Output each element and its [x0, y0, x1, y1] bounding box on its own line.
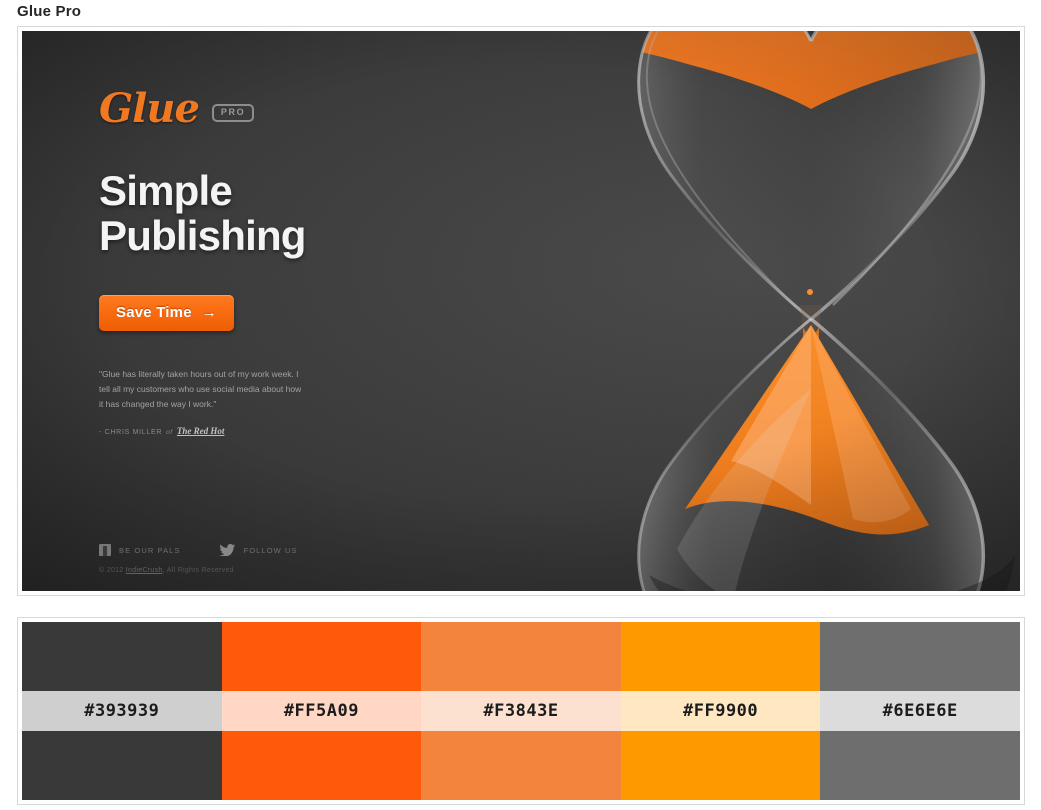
- testimonial-author: - Chris Miller: [99, 429, 162, 436]
- testimonial-quote: "Glue has literally taken hours out of m…: [99, 367, 307, 412]
- twitter-link-label: Follow Us: [244, 546, 298, 555]
- twitter-link[interactable]: Follow Us: [219, 544, 298, 556]
- hero-content: Glue PRO Simple Publishing Save Time → "…: [99, 89, 429, 436]
- testimonial-attribution: - Chris Miller of The Red Hot: [99, 426, 429, 436]
- copyright-link[interactable]: IndieCrush: [126, 567, 163, 574]
- facebook-link[interactable]: Be Our Pals: [99, 544, 181, 556]
- color-swatch-strip: #393939 #FF5A09 #F3843E #FF9900 #6E6E6E: [22, 622, 1020, 800]
- sand-top: [481, 31, 1020, 109]
- brand-logo[interactable]: Glue PRO: [99, 89, 429, 129]
- copyright-line: © 2012 IndieCrush, All Rights Reserved: [99, 567, 298, 574]
- facebook-link-label: Be Our Pals: [119, 546, 181, 555]
- hourglass-upper-bulb: [481, 31, 1020, 319]
- color-hex-label: #393939: [22, 701, 222, 721]
- hero-footer: Be Our Pals Follow Us © 2012: [99, 544, 298, 574]
- color-hex-label: #FF5A09: [222, 701, 422, 721]
- copyright-suffix: , All Rights Reserved: [163, 567, 234, 574]
- color-swatch-label-band: #393939 #FF5A09 #F3843E #FF9900 #6E6E6E: [22, 691, 1020, 731]
- hourglass-neck: [799, 289, 823, 345]
- copyright-prefix: © 2012: [99, 567, 123, 574]
- facebook-icon: [99, 544, 111, 556]
- save-time-button[interactable]: Save Time →: [99, 295, 234, 331]
- color-hex-label: #FF9900: [621, 701, 821, 721]
- headline-line-2: Publishing: [99, 214, 429, 259]
- color-palette-panel: #393939 #FF5A09 #F3843E #FF9900 #6E6E6E: [17, 617, 1025, 805]
- testimonial-of-word: of: [166, 429, 173, 436]
- sand-bottom-cone: [685, 325, 929, 534]
- hero-artwork: Glue PRO Simple Publishing Save Time → "…: [22, 31, 1020, 591]
- page-title: Glue Pro: [17, 3, 81, 20]
- color-palette-inner: #393939 #FF5A09 #F3843E #FF9900 #6E6E6E: [22, 622, 1020, 800]
- testimonial-source-link[interactable]: The Red Hot: [177, 426, 225, 436]
- hourglass-lower-bulb: [639, 319, 1015, 591]
- hero-panel: Glue PRO Simple Publishing Save Time → "…: [17, 26, 1025, 596]
- twitter-bird-icon: [219, 544, 236, 556]
- color-hex-label: #F3843E: [421, 701, 621, 721]
- logo-wordmark: Glue: [99, 89, 199, 129]
- social-links: Be Our Pals Follow Us: [99, 544, 298, 556]
- arrow-right-icon: →: [202, 305, 217, 320]
- hero-panel-inner: Glue PRO Simple Publishing Save Time → "…: [22, 31, 1020, 591]
- page-root: Glue Pro: [0, 0, 1041, 810]
- hero-headline: Simple Publishing: [99, 169, 429, 259]
- save-time-button-label: Save Time: [116, 304, 192, 321]
- hourglass-illustration: [481, 31, 1020, 591]
- headline-line-1: Simple: [99, 169, 429, 214]
- pro-badge: PRO: [212, 104, 254, 122]
- falling-sand-grain: [807, 289, 813, 295]
- color-hex-label: #6E6E6E: [820, 701, 1020, 721]
